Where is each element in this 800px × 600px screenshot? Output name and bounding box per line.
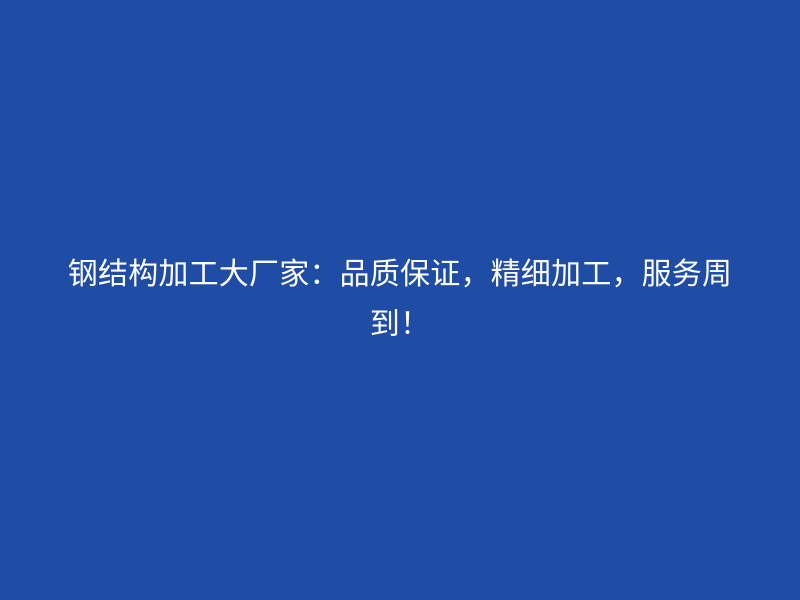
banner-headline: 钢结构加工大厂家：品质保证，精细加工，服务周到！ xyxy=(50,250,750,350)
banner-canvas: 钢结构加工大厂家：品质保证，精细加工，服务周到！ xyxy=(0,0,800,600)
headline-block: 钢结构加工大厂家：品质保证，精细加工，服务周到！ xyxy=(50,250,750,350)
